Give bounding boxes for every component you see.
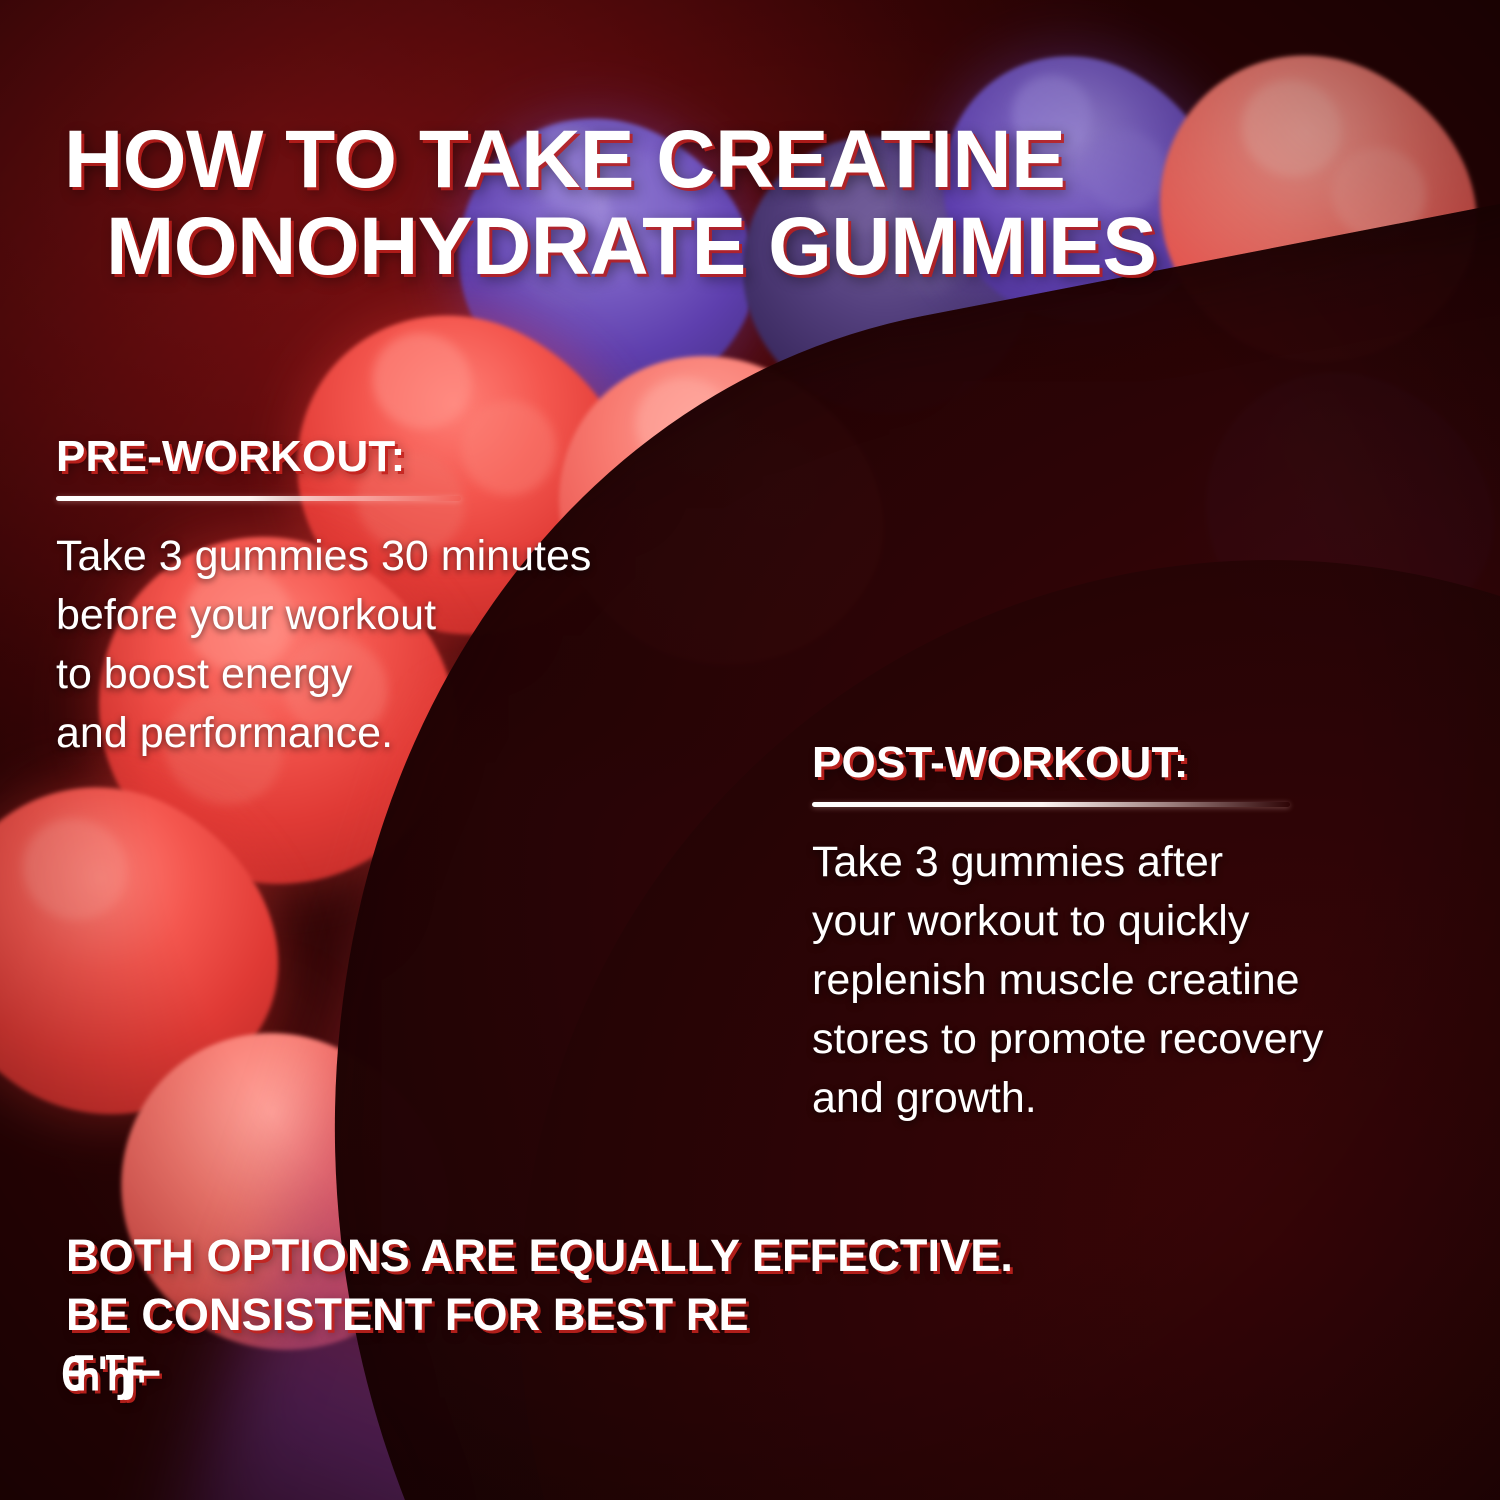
body-line: stores to promote recovery (812, 1010, 1472, 1069)
footer-callout: BOTH OPTIONS ARE EQUALLY EFFECTIVE. BE C… (66, 1226, 1426, 1404)
title-line-2: MONOHYDRATE GUMMIES (64, 204, 1364, 291)
body-line: before your workout (56, 586, 756, 645)
page-title: HOW TO TAKE CREATINE MONOHYDRATE GUMMIES (64, 117, 1364, 291)
pre-workout-body: Take 3 gummies 30 minutes before your wo… (56, 527, 756, 763)
body-line: and performance. (56, 704, 756, 763)
post-workout-heading: POST-WORKOUT: (812, 738, 1472, 788)
body-line: and growth. (812, 1069, 1472, 1128)
footer-line-2: BE CONSISTENT FOR BEST REЄЋ'ЂƑ⌐ (66, 1285, 1426, 1404)
title-line-1: HOW TO TAKE CREATINE (64, 114, 1065, 205)
pre-workout-underline (56, 496, 461, 501)
body-line: replenish muscle creatine (812, 951, 1472, 1010)
post-workout-underline (812, 802, 1290, 807)
infographic-poster: HOW TO TAKE CREATINE MONOHYDRATE GUMMIES… (0, 0, 1500, 1500)
section-pre-workout: PRE-WORKOUT: Take 3 gummies 30 minutes b… (56, 432, 756, 763)
footer-line-2-text: BE CONSISTENT FOR BEST RE (66, 1285, 1426, 1344)
body-line: Take 3 gummies after (812, 833, 1472, 892)
section-post-workout: POST-WORKOUT: Take 3 gummies after your … (812, 738, 1472, 1128)
footer-garbled-glyphs: ЄЋ'ЂƑ⌐ (60, 1344, 1235, 1405)
body-line: Take 3 gummies 30 minutes (56, 527, 756, 586)
footer-line-1: BOTH OPTIONS ARE EQUALLY EFFECTIVE. (66, 1226, 1426, 1285)
body-line: your workout to quickly (812, 892, 1472, 951)
pre-workout-heading: PRE-WORKOUT: (56, 432, 756, 482)
body-line: to boost energy (56, 645, 756, 704)
post-workout-body: Take 3 gummies after your workout to qui… (812, 833, 1472, 1128)
